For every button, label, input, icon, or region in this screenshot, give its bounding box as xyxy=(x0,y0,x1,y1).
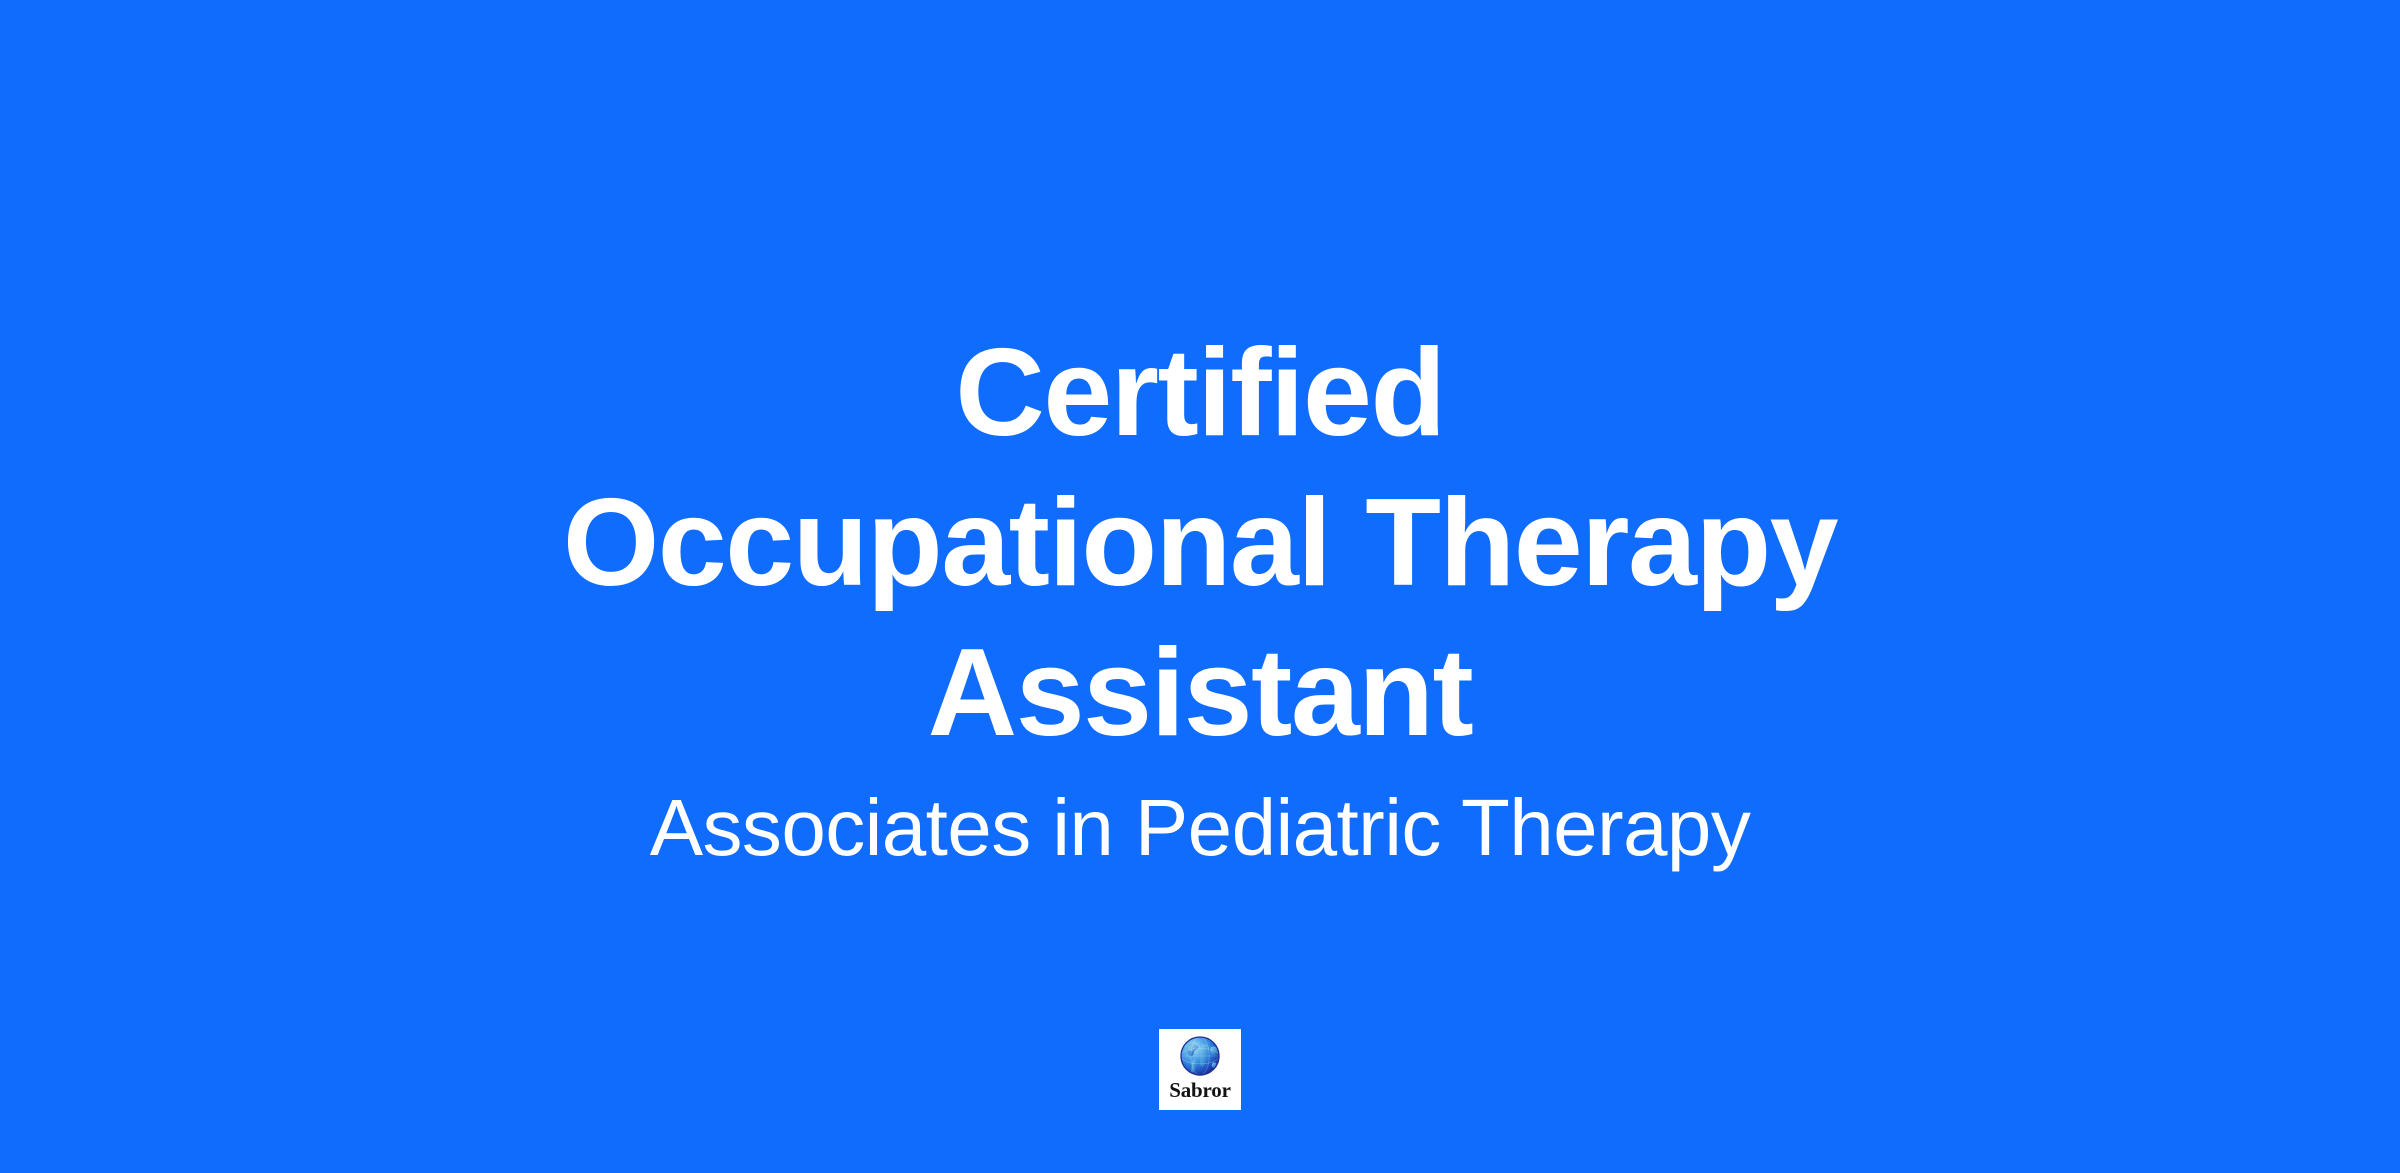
footer-logo-area: Sabror xyxy=(0,1029,2400,1111)
brand-logo[interactable]: Sabror xyxy=(1159,1029,1241,1110)
job-posting-card: Certified Occupational Therapy Assistant… xyxy=(0,0,2400,1173)
logo-wordmark: Sabror xyxy=(1169,1079,1230,1102)
page-title: Certified Occupational Therapy Assistant xyxy=(560,318,1840,768)
globe-icon xyxy=(1179,1035,1221,1077)
company-name: Associates in Pediatric Therapy xyxy=(300,781,2100,875)
posting-text-block: Certified Occupational Therapy Assistant… xyxy=(0,0,2400,875)
